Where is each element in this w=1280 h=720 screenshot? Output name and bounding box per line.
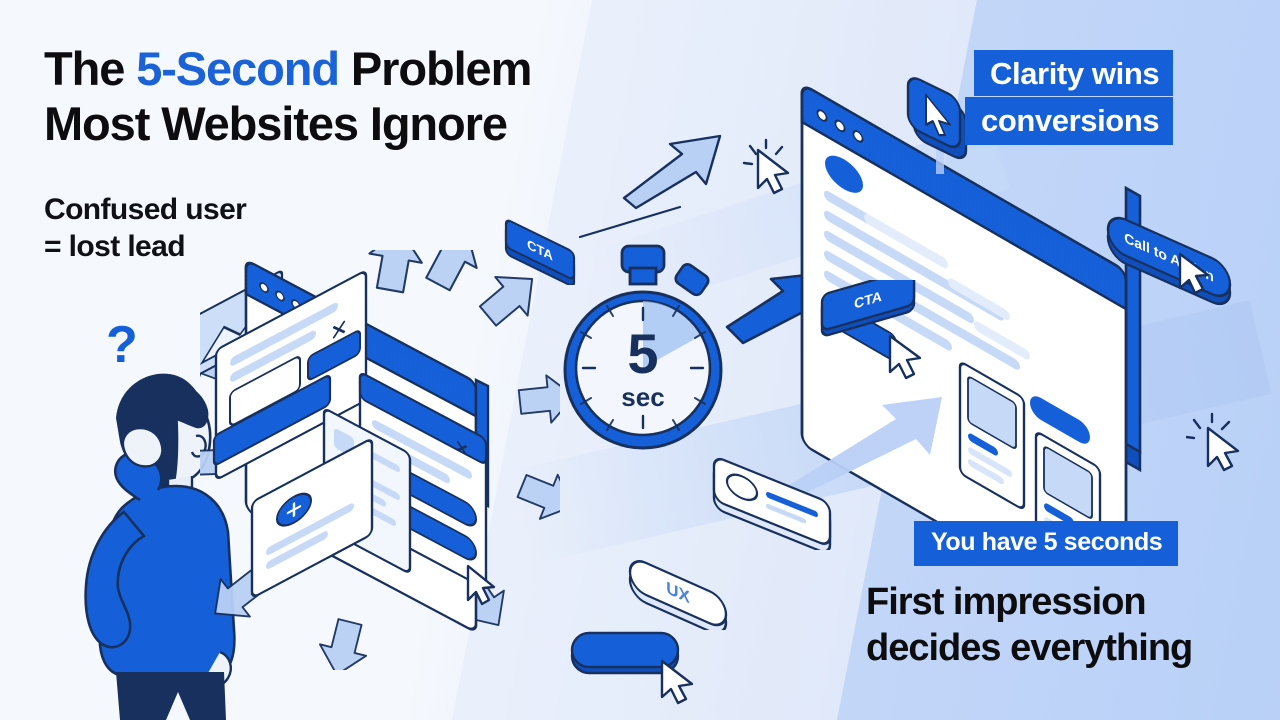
headline-part1: The — [44, 42, 136, 95]
badge-clarity-line1: Clarity wins — [974, 50, 1173, 96]
pointer-icon — [890, 336, 920, 378]
closing-statement: First impression decides everything — [866, 580, 1266, 671]
call-to-action-pill[interactable]: Call to Action — [1098, 198, 1258, 308]
cta-tooltip-on-mockup[interactable]: CTA — [818, 280, 938, 385]
badge-you-have-5-seconds: You have 5 seconds — [914, 521, 1178, 566]
badge-clarity-line2: conversions — [965, 97, 1173, 145]
cluttered-website-cluster — [200, 250, 560, 670]
headline-highlight: 5-Second — [136, 42, 339, 95]
closing-line2: decides everything — [866, 627, 1192, 669]
blue-pill-button[interactable] — [566, 625, 716, 715]
infographic-canvas: ? — [0, 0, 1280, 720]
pointer-icon — [662, 661, 692, 703]
headline-part2: Problem — [339, 42, 531, 95]
click-cursor-icon-right — [1186, 410, 1244, 474]
question-mark-label: ? — [106, 316, 138, 374]
device-mockup — [710, 450, 850, 550]
closing-line1: First impression — [866, 581, 1146, 623]
headline-line2: Most Websites Ignore — [44, 97, 507, 150]
page-title: The 5-Second Problem Most Websites Ignor… — [44, 42, 684, 151]
stopwatch-illustration: 5 sec — [548, 240, 738, 455]
subheadline-line1: Confused user — [44, 193, 246, 226]
stopwatch-unit: sec — [621, 382, 664, 412]
ux-pill[interactable]: UX — [620, 540, 750, 630]
subheadline-line2: = lost lead — [44, 230, 185, 263]
stopwatch-value: 5 — [627, 322, 658, 385]
subheadline: Confused user = lost lead — [44, 192, 404, 265]
